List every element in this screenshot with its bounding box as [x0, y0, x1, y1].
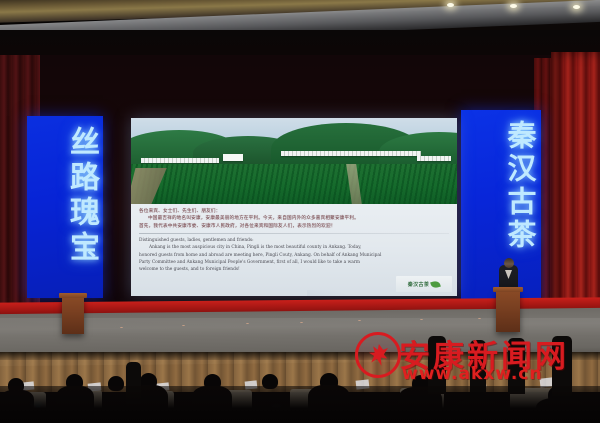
speech-english-line: Ankang is the most auspicious city in Ch… [139, 244, 451, 251]
photo-building-row [417, 156, 451, 161]
floor-reflection [478, 318, 481, 319]
podium-top-surface [59, 293, 87, 298]
speech-english-line: welcome to the guests, and to foreign fr… [139, 266, 451, 273]
floor-reflection [420, 319, 423, 320]
photo-building-row [281, 151, 421, 156]
main-led-screen: 各位来宾、女士们、先生们、朋友们： 中国最吉祥的地名叫安康，安康最美丽的地方在平… [131, 118, 457, 296]
speech-english-line: honored guests from home and abroad are … [139, 252, 451, 259]
photo-tea-field [131, 164, 457, 204]
speech-chinese-line: 中国最吉祥的地名叫安康，安康最美丽的地方在平利。今天，来自国内外的众多嘉宾相聚安… [139, 215, 451, 222]
text-divider [139, 233, 449, 234]
floor-reflection [300, 322, 303, 323]
ceiling-spotlight [573, 5, 580, 9]
ceiling-spotlight [510, 4, 517, 8]
tea-plantation-photo [131, 118, 457, 204]
photo-building-row [223, 154, 243, 161]
led-banner-left-text: 丝路瑰宝 [27, 126, 103, 288]
screen-speech-text: 各位来宾、女士们、先生们、朋友们： 中国最吉祥的地名叫安康，安康最美丽的地方在平… [131, 204, 457, 296]
speaker-head [504, 258, 514, 268]
led-banner-left: 丝路瑰宝 [27, 116, 103, 298]
photo-building-row [141, 158, 219, 163]
floor-reflection [182, 325, 185, 326]
standing-videographer [470, 340, 486, 392]
speech-english-line: Party Committee and Ankang Municipal Peo… [139, 259, 451, 266]
floor-reflection [358, 320, 361, 321]
podium-right [496, 290, 520, 332]
stage-photo-scene: 丝路瑰宝 秦汉古茶 各位来宾、女士们、先生们、朋友们： 中国最吉祥的地名叫安康，… [0, 0, 600, 423]
screen-corner-logo-text: 秦汉古茶 [408, 281, 430, 288]
audience-foreground-shadow [0, 386, 600, 423]
floor-reflection [246, 323, 249, 324]
podium-left [62, 296, 84, 334]
tea-leaf-icon [430, 279, 441, 288]
speech-chinese-line: 首先，我代表中共安康市委、安康市人民政府，对各位来宾和国际友人们，表示热烈的欢迎… [139, 223, 451, 230]
podium-top-surface [493, 287, 523, 292]
screen-corner-logo: 秦汉古茶 [396, 276, 452, 292]
stage-curtain-right [551, 52, 600, 320]
floor-reflection [120, 327, 123, 328]
ceiling-spotlight [447, 3, 454, 7]
speech-english-line: Distinguished guests, ladies, gentlemen … [139, 237, 451, 244]
speech-chinese-line: 各位来宾、女士们、先生们、朋友们： [139, 208, 451, 215]
